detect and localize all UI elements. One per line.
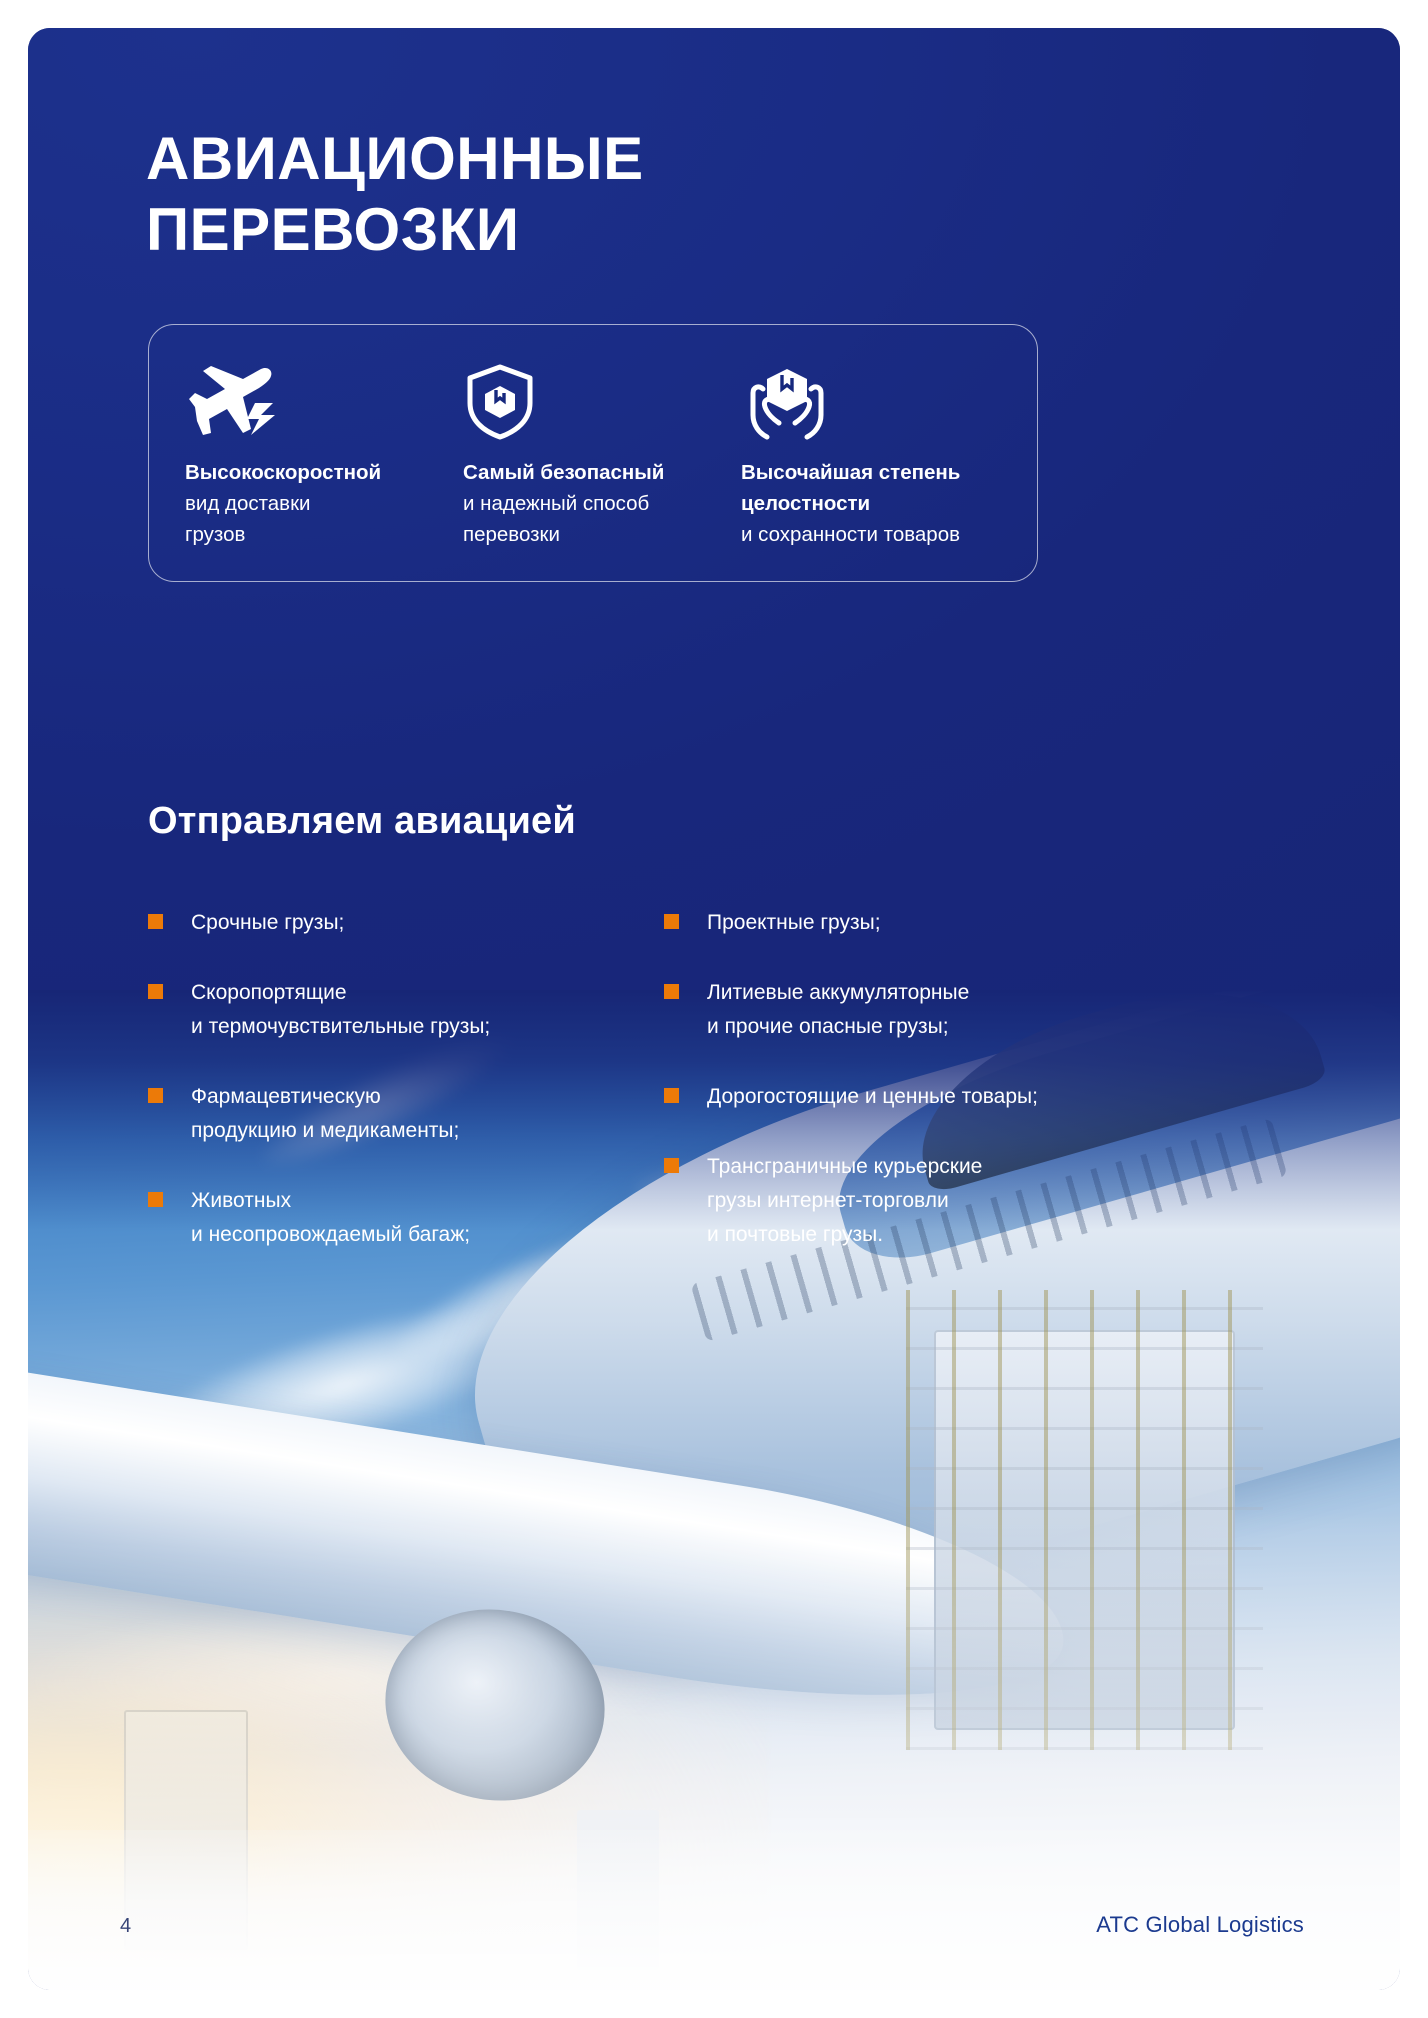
feature-line3: грузов (185, 523, 245, 546)
list-item: Дорогостоящие и ценные товары; (664, 1080, 1128, 1114)
list-item: Фармацевтическуюпродукцию и медикаменты; (148, 1080, 612, 1148)
bullet-icon (148, 984, 163, 999)
bullet-icon (664, 1088, 679, 1103)
page-title: АВИАЦИОННЫЕ ПЕРЕВОЗКИ (146, 124, 1046, 266)
feature-text: Самый безопасный и надежный способ перев… (463, 457, 725, 550)
list-item-text: Животныхи несопровождаемый багаж; (191, 1184, 470, 1252)
page-content: АВИАЦИОННЫЕ ПЕРЕВОЗКИ Высокоскоростной в… (28, 28, 1400, 1990)
list-item: Трансграничные курьерскиегрузы интернет-… (664, 1150, 1128, 1252)
page-title-line2: ПЕРЕВОЗКИ (146, 195, 1046, 266)
feature-item-integrity: Высочайшая степень целостности и сохранн… (741, 363, 1001, 551)
brochure-page: АВИАЦИОННЫЕ ПЕРЕВОЗКИ Высокоскоростной в… (28, 28, 1400, 1990)
feature-item-speed: Высокоскоростной вид доставки грузов (185, 363, 463, 551)
cargo-list-right: Проектные грузы; Литиевые аккумуляторные… (664, 906, 1128, 1288)
list-item: Срочные грузы; (148, 906, 612, 940)
page-number: 4 (120, 1915, 131, 1938)
feature-strong: Высокоскоростной (185, 461, 381, 484)
feature-text: Высочайшая степень целостности и сохранн… (741, 457, 985, 550)
list-item-text: Дорогостоящие и ценные товары; (707, 1080, 1038, 1114)
list-item-text: Срочные грузы; (191, 906, 344, 940)
feature-line3: и сохранности товаров (741, 523, 960, 546)
list-item: Скоропортящиеи термочувствительные грузы… (148, 976, 612, 1044)
bullet-icon (664, 1158, 679, 1173)
feature-text: Высокоскоростной вид доставки грузов (185, 457, 447, 550)
plane-bolt-icon (185, 363, 447, 441)
feature-line2: вид доставки (185, 492, 310, 515)
feature-card: Высокоскоростной вид доставки грузов Сам… (148, 324, 1038, 582)
bullet-icon (664, 914, 679, 929)
list-item-text: Фармацевтическуюпродукцию и медикаменты; (191, 1080, 459, 1148)
bullet-icon (148, 1192, 163, 1207)
bullet-icon (148, 914, 163, 929)
section-title: Отправляем авиацией (148, 800, 576, 843)
feature-item-safety: Самый безопасный и надежный способ перев… (463, 363, 741, 551)
list-item-text: Трансграничные курьерскиегрузы интернет-… (707, 1150, 982, 1252)
list-item: Проектные грузы; (664, 906, 1128, 940)
list-item-text: Проектные грузы; (707, 906, 881, 940)
feature-strong: Высочайшая степень (741, 461, 960, 484)
cargo-list-left: Срочные грузы; Скоропортящиеи термочувст… (148, 906, 612, 1288)
bullet-icon (664, 984, 679, 999)
page-title-line1: АВИАЦИОННЫЕ (146, 125, 644, 192)
brand-footer: ATC Global Logistics (1096, 1912, 1304, 1938)
feature-line2: и надежный способ (463, 492, 649, 515)
bullet-icon (148, 1088, 163, 1103)
feature-line3: перевозки (463, 523, 560, 546)
list-item: Животныхи несопровождаемый багаж; (148, 1184, 612, 1252)
hands-package-icon (741, 363, 985, 441)
list-item-text: Литиевые аккумуляторныеи прочие опасные … (707, 976, 969, 1044)
list-item: Литиевые аккумуляторныеи прочие опасные … (664, 976, 1128, 1044)
shield-package-icon (463, 363, 725, 441)
cargo-type-lists: Срочные грузы; Скоропортящиеи термочувст… (148, 906, 1188, 1288)
feature-strong-2: целостности (741, 492, 870, 515)
list-item-text: Скоропортящиеи термочувствительные грузы… (191, 976, 490, 1044)
feature-strong: Самый безопасный (463, 461, 664, 484)
